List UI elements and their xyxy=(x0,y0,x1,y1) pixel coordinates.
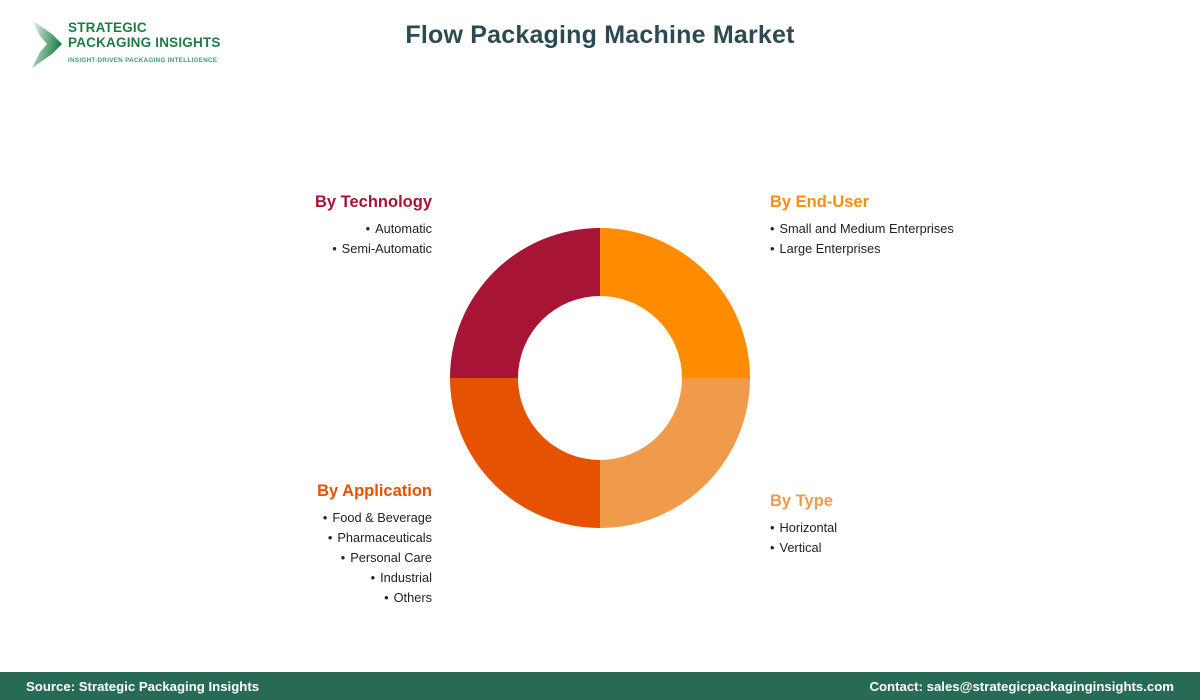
segment-list-type: HorizontalVertical xyxy=(770,518,1100,558)
donut-chart xyxy=(450,228,750,528)
segment-item: Horizontal xyxy=(770,518,1100,538)
segment-heading-type: By Type xyxy=(770,492,1100,511)
segment-item: Food & Beverage xyxy=(160,508,432,528)
footer-source: Source: Strategic Packaging Insights xyxy=(26,679,259,694)
segment-list-application: Food & BeveragePharmaceuticalsPersonal C… xyxy=(160,508,432,608)
footer-bar: Source: Strategic Packaging Insights Con… xyxy=(0,672,1200,700)
segment-item: Semi-Automatic xyxy=(160,239,432,259)
segment-item: Pharmaceuticals xyxy=(160,528,432,548)
segment-item: Others xyxy=(160,588,432,608)
brand-tagline: INSIGHT-DRIVEN PACKAGING INTELLIGENCE xyxy=(68,57,221,64)
segment-block-technology: By Technology AutomaticSemi-Automatic xyxy=(160,193,432,259)
segment-item: Large Enterprises xyxy=(770,239,1100,259)
segment-item: Automatic xyxy=(160,219,432,239)
segment-heading-technology: By Technology xyxy=(160,193,432,212)
segment-item: Vertical xyxy=(770,538,1100,558)
segment-item: Personal Care xyxy=(160,548,432,568)
segment-item: Small and Medium Enterprises xyxy=(770,219,1100,239)
segment-item: Industrial xyxy=(160,568,432,588)
segment-block-end-user: By End-User Small and Medium Enterprises… xyxy=(770,193,1100,259)
segment-heading-end-user: By End-User xyxy=(770,193,1100,212)
segment-block-type: By Type HorizontalVertical xyxy=(770,492,1100,558)
segment-block-application: By Application Food & BeveragePharmaceut… xyxy=(160,482,432,608)
footer-contact: Contact: sales@strategicpackaginginsight… xyxy=(869,679,1174,694)
donut-center-hole xyxy=(518,296,682,460)
page-title: Flow Packaging Machine Market xyxy=(0,21,1200,50)
segment-heading-application: By Application xyxy=(160,482,432,501)
segment-list-technology: AutomaticSemi-Automatic xyxy=(160,219,432,259)
segment-list-end-user: Small and Medium EnterprisesLarge Enterp… xyxy=(770,219,1100,259)
